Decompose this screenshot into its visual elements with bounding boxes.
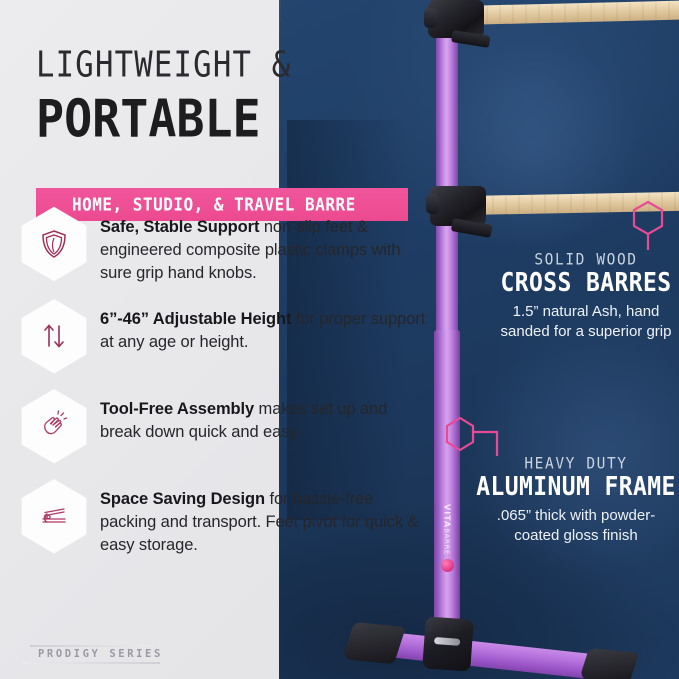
feature-item-safe-stable-support: Safe, Stable Support non-slip feet & eng… <box>18 206 428 284</box>
feature-item-space-saving-design: Space Saving Design for hassle-free pack… <box>18 478 428 556</box>
callout-description: .065” thick with powder-coated gloss fin… <box>476 506 676 544</box>
feature-icon-badge <box>18 388 90 464</box>
feature-list: Safe, Stable Support non-slip feet & eng… <box>18 206 428 571</box>
feature-icon-badge <box>18 298 90 374</box>
callout-kicker: HEAVY DUTY <box>476 455 676 473</box>
callout-description: 1.5” natural Ash, hand sanded for a supe… <box>498 302 674 340</box>
feature-icon-badge <box>18 478 90 554</box>
feature-bold-text: 6”-46” Adjustable Height <box>100 310 291 328</box>
feature-text: Safe, Stable Support non-slip feet & eng… <box>100 206 428 284</box>
feature-text: 6”-46” Adjustable Height for proper supp… <box>100 298 428 354</box>
shield-icon <box>39 228 69 260</box>
feature-text: Space Saving Design for hassle-free pack… <box>100 478 428 556</box>
folded-barre-stack-icon <box>38 501 70 531</box>
callout-cross-barres: SOLID WOOD CROSS BARRES 1.5” natural Ash… <box>498 252 674 341</box>
feature-text: Tool-Free Assembly makes set up and brea… <box>100 388 428 444</box>
infographic-canvas: VITABARRE LIGHTWEIGHT & PORTABLE HOME, S… <box>0 0 679 679</box>
feature-bold-text: Tool-Free Assembly <box>100 400 254 418</box>
callout-title: ALUMINUM FRAME <box>476 474 676 501</box>
feature-bold-text: Space Saving Design <box>100 490 265 508</box>
headline-line-2: PORTABLE <box>36 94 418 146</box>
callout-kicker: SOLID WOOD <box>498 251 674 269</box>
feature-item-tool-free-assembly: Tool-Free Assembly makes set up and brea… <box>18 388 428 464</box>
feature-item-adjustable-height: 6”-46” Adjustable Height for proper supp… <box>18 298 428 374</box>
callout-title: CROSS BARRES <box>498 270 674 297</box>
headline-line-1: LIGHTWEIGHT & <box>36 48 403 83</box>
hand-clap-icon <box>38 410 70 442</box>
feature-icon-badge <box>18 206 90 282</box>
feature-bold-text: Safe, Stable Support <box>100 218 259 236</box>
series-badge: PRODIGY SERIES <box>30 645 171 664</box>
callout-aluminum-frame: HEAVY DUTY ALUMINUM FRAME .065” thick wi… <box>476 456 676 545</box>
headline-block: LIGHTWEIGHT & PORTABLE HOME, STUDIO, & T… <box>36 48 396 138</box>
up-down-arrows-icon <box>39 320 69 352</box>
panel-glow-top <box>429 40 639 250</box>
